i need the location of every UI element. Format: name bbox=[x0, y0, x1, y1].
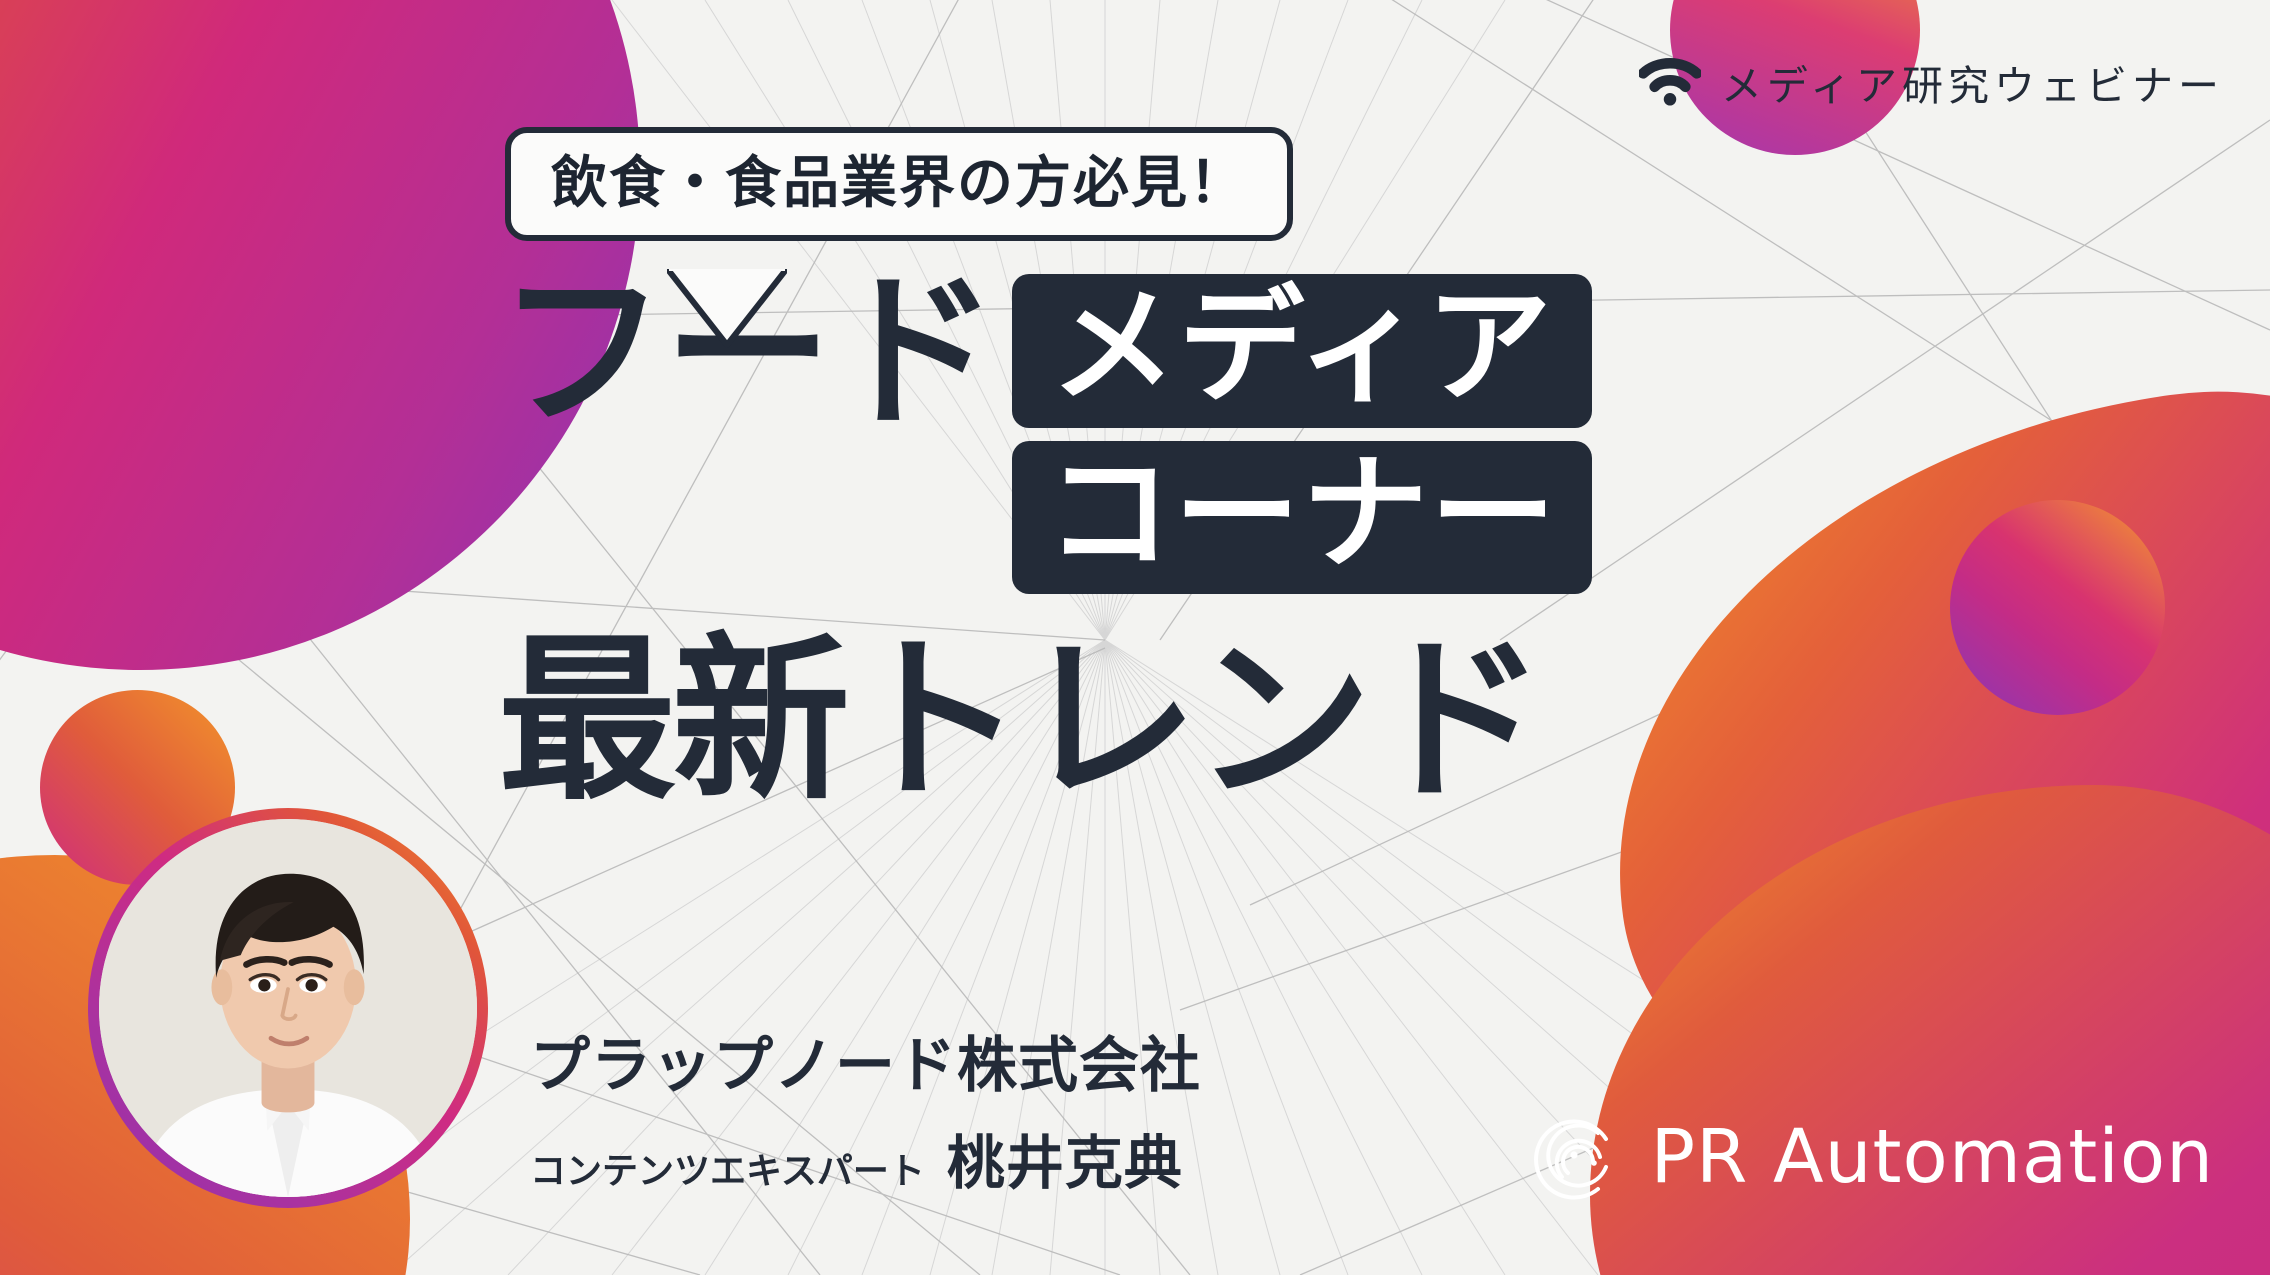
title-chip-corner: コーナー bbox=[1012, 441, 1592, 595]
title-chip-group: メディア コーナー bbox=[1012, 268, 1592, 594]
speaker-line: コンテンツエキスパート 桃井克典 bbox=[530, 1116, 1201, 1200]
company-name: プラップノード株式会社 bbox=[530, 1030, 1201, 1102]
pr-automation-logo: PR Automation bbox=[1532, 1111, 2214, 1203]
title-chip-media: メディア bbox=[1012, 274, 1592, 428]
speaker-portrait bbox=[99, 819, 477, 1197]
speaker-role: コンテンツエキスパート bbox=[530, 1142, 925, 1194]
speech-bubble: 飲食・食品業界の方必見！ bbox=[505, 127, 1293, 241]
pr-automation-wordmark: PR Automation bbox=[1650, 1114, 2214, 1200]
wifi-icon bbox=[1639, 58, 1701, 106]
webinar-banner: メディア研究ウェビナー 飲食・食品業界の方必見！ フード メディア コーナー 最… bbox=[0, 0, 2270, 1275]
pr-automation-spiral-icon bbox=[1532, 1111, 1624, 1203]
avatar bbox=[88, 808, 488, 1208]
main-title: フード メディア コーナー 最新トレンド bbox=[498, 268, 1592, 810]
webinar-label: メディア研究ウェビナー bbox=[1721, 52, 2224, 112]
decor-circle-right bbox=[1950, 500, 2165, 715]
avatar-image-clip bbox=[99, 819, 477, 1197]
speech-bubble-tail bbox=[667, 269, 787, 349]
decor-blob-right bbox=[1562, 347, 2270, 1233]
title-line-2: 最新トレンド bbox=[498, 632, 1592, 810]
speech-bubble-box: 飲食・食品業界の方必見！ bbox=[505, 127, 1293, 241]
webinar-tag: メディア研究ウェビナー bbox=[1639, 52, 2224, 112]
speaker-name: 桃井克典 bbox=[947, 1116, 1183, 1200]
speech-bubble-text: 飲食・食品業界の方必見！ bbox=[551, 150, 1247, 216]
title-line-1: フード メディア コーナー bbox=[498, 268, 1592, 594]
speaker-info: プラップノード株式会社 コンテンツエキスパート 桃井克典 bbox=[530, 1030, 1201, 1200]
